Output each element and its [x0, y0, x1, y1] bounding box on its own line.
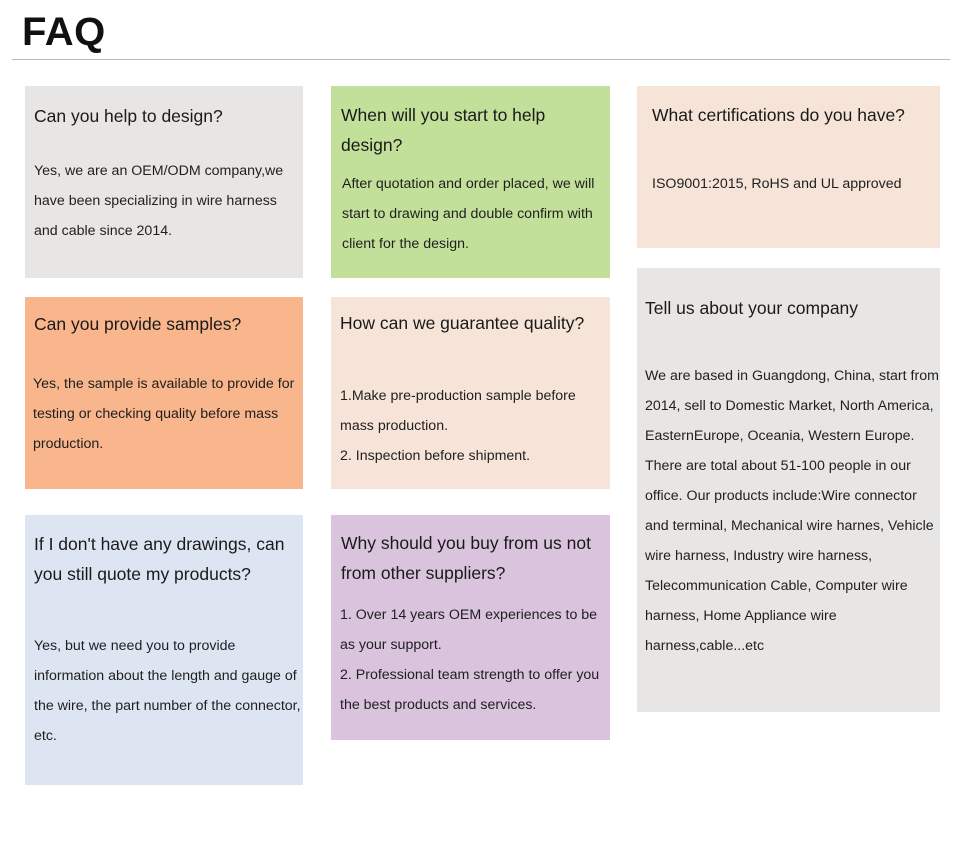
faq-question: Why should you buy from us not from othe… — [341, 528, 605, 588]
faq-question: Can you provide samples? — [34, 309, 296, 339]
faq-card-quality: How can we guarantee quality? 1.Make pre… — [331, 297, 610, 489]
faq-card-when-start-design: When will you start to help design? Afte… — [331, 86, 610, 278]
faq-card-why-buy-from-us: Why should you buy from us not from othe… — [331, 515, 610, 740]
faq-answer: 1. Over 14 years OEM experiences to be a… — [340, 600, 610, 720]
header-divider — [12, 59, 950, 60]
faq-answer: ISO9001:2015, RoHS and UL approved — [652, 169, 938, 199]
faq-question: When will you start to help design? — [341, 100, 603, 160]
faq-answer: After quotation and order placed, we wil… — [342, 169, 608, 259]
faq-answer: We are based in Guangdong, China, start … — [645, 361, 941, 661]
faq-card-samples: Can you provide samples? Yes, the sample… — [25, 297, 303, 489]
page-header: FAQ — [0, 0, 960, 64]
faq-question: Can you help to design? — [34, 101, 296, 131]
faq-question: If I don't have any drawings, can you st… — [34, 529, 298, 589]
faq-answer: 1.Make pre-production sample before mass… — [340, 381, 610, 471]
faq-question: Tell us about your company — [645, 293, 935, 323]
faq-answer: Yes, we are an OEM/ODM company,we have b… — [34, 156, 302, 246]
faq-card-design: Can you help to design? Yes, we are an O… — [25, 86, 303, 278]
page-title: FAQ — [22, 9, 106, 55]
faq-page: FAQ Can you help to design? Yes, we are … — [0, 0, 960, 842]
faq-answer: Yes, but we need you to provide informat… — [34, 631, 302, 751]
faq-card-company: Tell us about your company We are based … — [637, 268, 940, 712]
faq-card-certifications: What certifications do you have? ISO9001… — [637, 86, 940, 248]
faq-question: How can we guarantee quality? — [340, 308, 602, 338]
faq-card-drawings: If I don't have any drawings, can you st… — [25, 515, 303, 785]
faq-question: What certifications do you have? — [652, 100, 932, 130]
faq-answer: Yes, the sample is available to provide … — [33, 369, 307, 459]
